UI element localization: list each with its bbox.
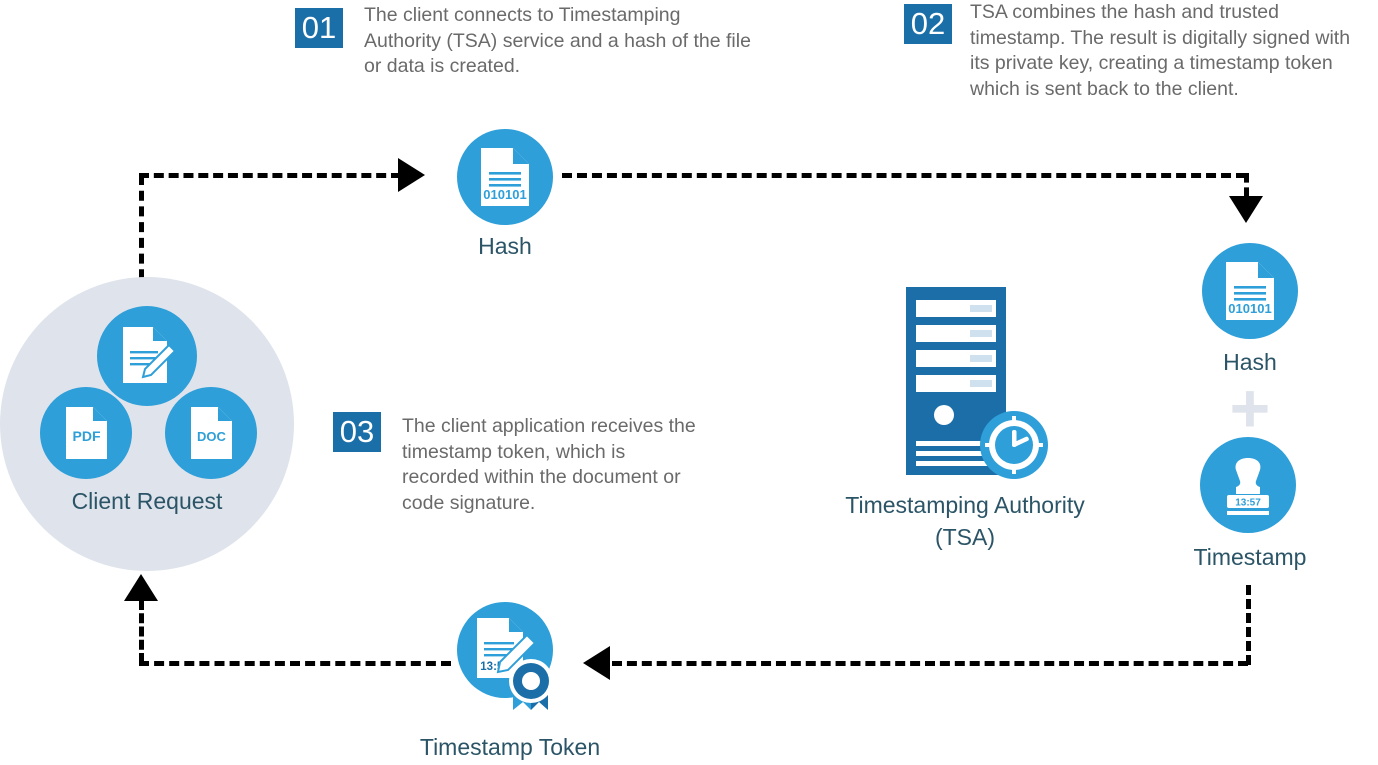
step-01-number-badge: 01 bbox=[295, 8, 343, 48]
client-request-label: Client Request bbox=[20, 487, 274, 515]
diagram-canvas: 01 The client connects to Timestamping A… bbox=[0, 0, 1378, 765]
tsa-label-line2: (TSA) bbox=[790, 523, 1140, 551]
connector-timestamp-to-token-horizontal bbox=[612, 661, 1248, 666]
pdf-file-icon: PDF bbox=[62, 405, 110, 461]
connector-token-to-client-horizontal bbox=[139, 661, 451, 666]
connector-hash-to-tsa-vertical bbox=[1244, 173, 1249, 197]
client-pdf-circle[interactable]: PDF bbox=[40, 387, 132, 479]
connector-client-to-hash-horizontal bbox=[139, 173, 401, 178]
timestamp-node[interactable]: 13:57 bbox=[1200, 437, 1296, 533]
svg-text:010101: 010101 bbox=[1228, 301, 1271, 316]
arrow-down-to-hash-right-icon bbox=[1229, 196, 1263, 223]
signed-document-seal-icon: 13:57 bbox=[455, 602, 565, 714]
hash-node-right[interactable]: 010101 bbox=[1202, 243, 1298, 339]
timestamp-token-label: Timestamp Token bbox=[390, 733, 630, 761]
step-02-text: TSA combines the hash and trusted timest… bbox=[970, 0, 1372, 102]
doc-label: DOC bbox=[197, 429, 227, 444]
arrow-up-to-client-circle bbox=[124, 574, 158, 601]
svg-text:13:57: 13:57 bbox=[1235, 498, 1261, 509]
step-01-number: 01 bbox=[295, 8, 343, 48]
step-03-number-badge: 03 bbox=[333, 412, 381, 452]
client-document-pen-circle[interactable] bbox=[97, 306, 197, 406]
document-pen-icon bbox=[117, 325, 177, 387]
clock-icon bbox=[980, 411, 1048, 479]
svg-text:010101: 010101 bbox=[483, 187, 526, 202]
step-02-number: 02 bbox=[904, 4, 952, 44]
tsa-label-line1: Timestamping Authority bbox=[790, 491, 1140, 519]
step-03-number: 03 bbox=[333, 412, 381, 452]
timestamp-node-label: Timestamp bbox=[1160, 543, 1340, 571]
timestamp-token-node[interactable]: 13:57 bbox=[455, 602, 565, 719]
arrow-left-to-token-icon bbox=[583, 646, 610, 680]
hash-document-icon: 010101 bbox=[479, 146, 531, 208]
step-02-number-badge: 02 bbox=[904, 4, 952, 44]
client-doc-circle[interactable]: DOC bbox=[165, 387, 257, 479]
doc-file-icon: DOC bbox=[187, 405, 235, 461]
connector-token-to-client-vertical bbox=[139, 600, 144, 663]
hash-document-icon: 010101 bbox=[1224, 260, 1276, 322]
rubber-stamp-icon: 13:57 bbox=[1219, 454, 1277, 516]
step-01-text: The client connects to Timestamping Auth… bbox=[364, 3, 754, 80]
step-03-text: The client application receives the time… bbox=[402, 414, 702, 516]
hash-node-top-label: Hash bbox=[427, 232, 583, 260]
connector-hash-to-tsa-horizontal bbox=[562, 173, 1246, 178]
tsa-server-node[interactable] bbox=[900, 285, 1060, 485]
server-tower-icon bbox=[900, 285, 1060, 480]
hash-node-top[interactable]: 010101 bbox=[457, 129, 553, 225]
connector-timestamp-to-token-vertical bbox=[1246, 585, 1251, 665]
arrow-right-to-hash-icon bbox=[398, 158, 425, 192]
combine-plus-operator: + bbox=[1222, 378, 1278, 438]
pdf-label: PDF bbox=[73, 428, 101, 444]
